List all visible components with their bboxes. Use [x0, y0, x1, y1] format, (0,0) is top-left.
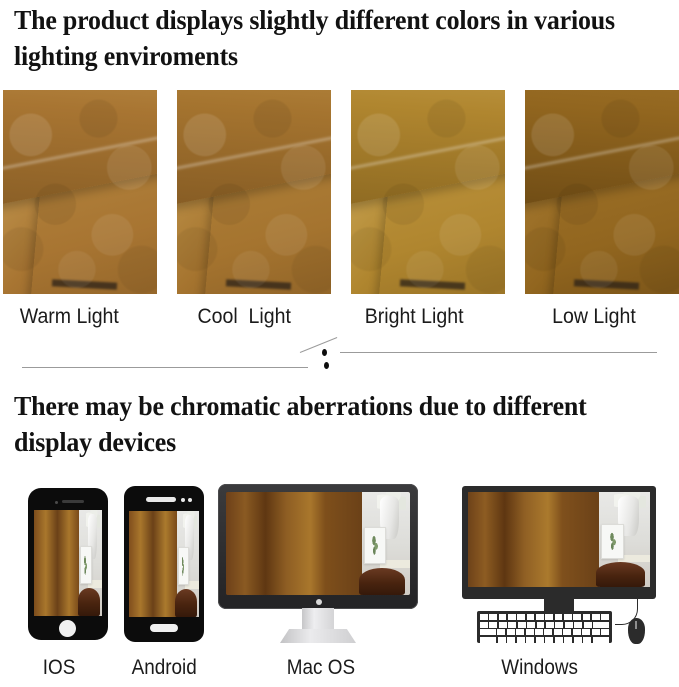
fabric-image-bright-light	[351, 90, 505, 294]
lighting-heading: The product displays slightly different …	[14, 2, 648, 74]
earpiece-speaker-icon	[62, 500, 84, 503]
earpiece-speaker-icon	[146, 497, 176, 502]
screen-preview-windows	[468, 492, 650, 587]
desktop-pc-icon	[452, 480, 666, 645]
mouse-icon[interactable]	[628, 618, 645, 644]
fabric-swatch-bright-light	[351, 90, 505, 294]
front-camera-icon	[181, 498, 185, 502]
swatch-label-low-light: Low Light	[552, 305, 636, 329]
fabric-image-low-light	[525, 90, 679, 294]
screen-preview-ios	[34, 510, 102, 616]
device-label-ios: IOS	[43, 656, 76, 680]
screen-preview-android	[129, 511, 199, 617]
divider-right-line	[340, 352, 657, 353]
divider-diagonal-line	[300, 337, 337, 353]
android-phone-icon	[124, 486, 204, 642]
device-row	[0, 480, 679, 645]
monitor-stand-base	[280, 629, 356, 643]
fabric-swatch-low-light	[525, 90, 679, 294]
device-label-android: Android	[132, 656, 197, 680]
fabric-image-cool-light	[177, 90, 331, 294]
swatch-label-warm-light: Warm Light	[20, 305, 119, 329]
monitor-bezel	[218, 484, 418, 609]
monitor-stand-neck	[302, 608, 334, 630]
iphone-icon	[28, 488, 108, 640]
divider-dot-upper	[322, 349, 327, 356]
devices-heading: There may be chromatic aberrations due t…	[14, 388, 648, 460]
home-button[interactable]	[59, 620, 76, 637]
swatch-label-cool-light: Cool Light	[198, 305, 291, 329]
device-labels: IOS Android Mac OS Windows	[0, 656, 679, 686]
fabric-swatch-row	[3, 90, 679, 294]
divider-dot-lower	[324, 362, 329, 369]
fabric-swatch-warm-light	[3, 90, 157, 294]
proximity-sensor-icon	[188, 498, 192, 502]
device-label-windows: Windows	[501, 656, 578, 680]
screen-preview-macos	[226, 492, 410, 595]
section-divider	[0, 345, 679, 379]
fabric-swatch-labels: Warm Light Cool Light Bright Light Low L…	[0, 305, 679, 339]
divider-left-line	[22, 367, 308, 368]
swatch-label-bright-light: Bright Light	[365, 305, 464, 329]
monitor-bezel	[462, 486, 656, 599]
fabric-image-warm-light	[3, 90, 157, 294]
keyboard-icon[interactable]	[477, 611, 612, 643]
front-camera-icon	[55, 501, 58, 504]
apple-logo-icon	[316, 599, 322, 605]
device-label-macos: Mac OS	[287, 656, 355, 680]
home-button[interactable]	[150, 624, 178, 632]
fabric-swatch-cool-light	[177, 90, 331, 294]
imac-monitor-icon	[218, 484, 418, 644]
